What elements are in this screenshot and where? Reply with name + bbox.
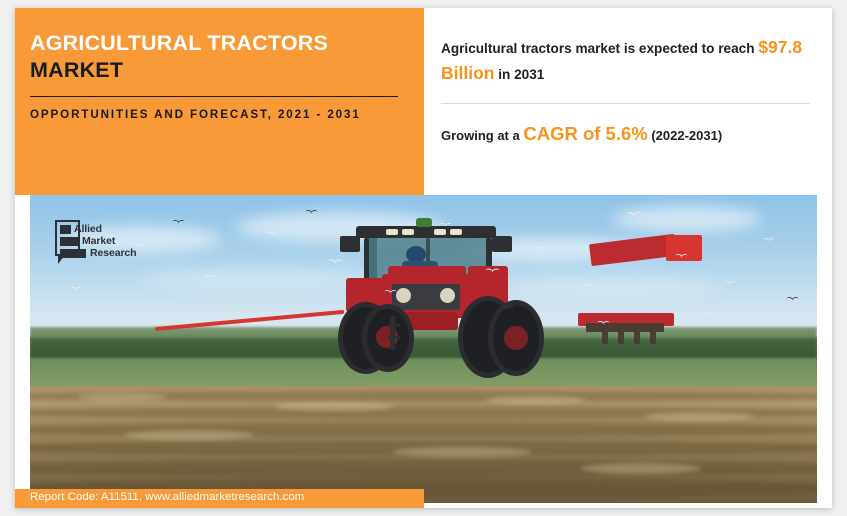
stat-cagr-value: CAGR of 5.6% (523, 123, 647, 144)
page-title-line-2: MARKET (30, 57, 398, 84)
tractor (330, 216, 580, 386)
stats-divider (441, 103, 810, 104)
watermark-bar-3 (60, 249, 86, 258)
stat-market-size-prefix: Agricultural tractors market is expected… (441, 41, 758, 56)
stat-market-size-suffix: in 2031 (494, 67, 544, 82)
stat-market-size: Agricultural tractors market is expected… (441, 34, 810, 86)
report-infographic-page: AGRICULTURAL TRACTORS MARKET OPPORTUNITI… (15, 8, 832, 508)
stat-cagr-prefix: Growing at a (441, 128, 523, 143)
stat-cagr: Growing at a CAGR of 5.6% (2022-2031) (441, 120, 810, 148)
watermark-line-1: Allied (74, 223, 102, 235)
footer-report-code: Report Code: A11511, www.alliedmarketres… (30, 491, 304, 503)
watermark-line-2: Market (82, 235, 115, 247)
title-divider (30, 96, 398, 97)
watermark-bar-2 (60, 237, 78, 246)
hero-photo: Allied Market Research (30, 195, 817, 503)
plowed-field (30, 386, 817, 503)
footer-band: Report Code: A11511, www.alliedmarketres… (15, 489, 424, 508)
watermark-bar-1 (60, 225, 71, 234)
key-stats-panel: Agricultural tractors market is expected… (424, 8, 832, 195)
allied-market-research-watermark: Allied Market Research (55, 220, 135, 264)
page-subtitle: OPPORTUNITIES AND FORECAST, 2021 - 2031 (30, 106, 398, 124)
title-block: AGRICULTURAL TRACTORS MARKET OPPORTUNITI… (15, 8, 424, 195)
page-title-line-1: AGRICULTURAL TRACTORS (30, 30, 398, 57)
stat-cagr-suffix: (2022-2031) (648, 128, 722, 143)
watermark-line-3: Research (90, 247, 136, 259)
